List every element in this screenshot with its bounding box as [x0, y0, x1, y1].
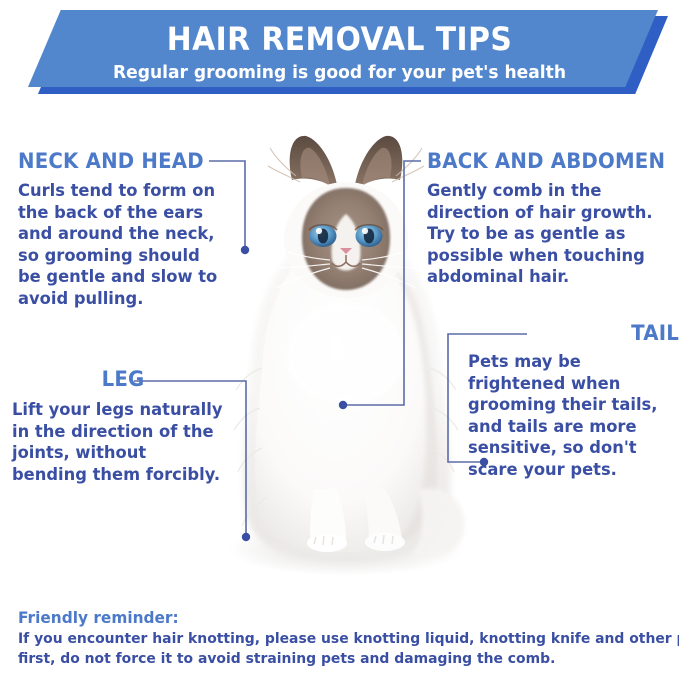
callout-body-leg: Lift your legs naturally in the directio… [12, 400, 225, 486]
footer-line-2: first, do not force it to avoid strainin… [18, 650, 642, 670]
infographic-root: HAIR REMOVAL TIPS Regular grooming is go… [0, 0, 679, 679]
footer-note: Friendly reminder: If you encounter hair… [18, 608, 668, 669]
header-banner: HAIR REMOVAL TIPS Regular grooming is go… [0, 0, 679, 105]
callout-back-abdomen: BACK AND ABDOMEN Gently comb in the dire… [427, 150, 677, 289]
callout-title-tail: TAIL [481, 322, 679, 344]
callout-title-neck-head: NECK AND HEAD [18, 150, 215, 172]
callout-leg: LEG Lift your legs naturally in the dire… [12, 368, 234, 486]
callout-title-leg: LEG [19, 368, 228, 390]
page-subtitle: Regular grooming is good for your pet's … [17, 62, 662, 83]
footer-title: Friendly reminder: [18, 608, 642, 627]
page-title: HAIR REMOVAL TIPS [24, 20, 655, 58]
footer-line-1: If you encounter hair knotting, please u… [18, 630, 642, 650]
callout-body-tail: Pets may be frightened when grooming the… [468, 352, 671, 481]
callout-neck-head: NECK AND HEAD Curls tend to form on the … [18, 150, 228, 311]
callout-tail: TAIL Pets may be frightened when groomin… [468, 322, 679, 482]
callout-body-back-abdomen: Gently comb in the direction of hair gro… [427, 181, 667, 289]
callout-body-neck-head: Curls tend to form on the back of the ea… [18, 181, 220, 310]
callout-title-back-abdomen: BACK AND ABDOMEN [427, 150, 662, 172]
